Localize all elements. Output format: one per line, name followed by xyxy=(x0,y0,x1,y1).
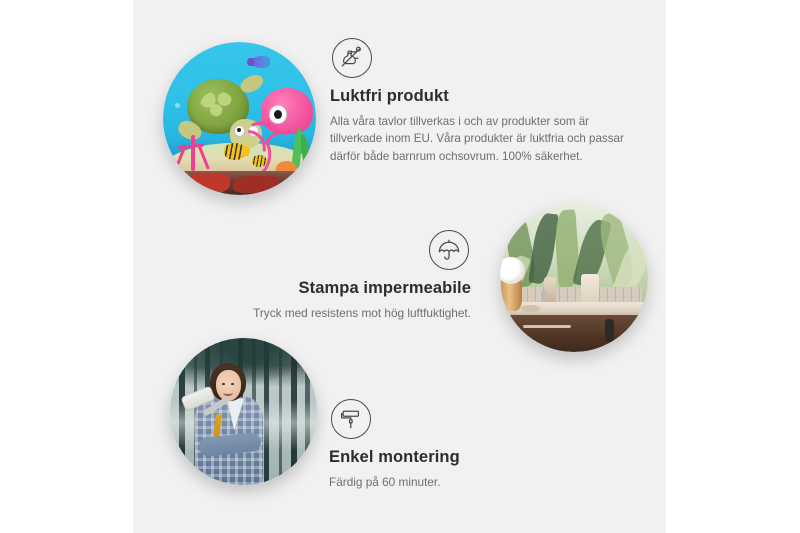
paint-roller-icon xyxy=(331,399,371,439)
feature-title: Luktfri produkt xyxy=(330,87,630,107)
yellow-striped-fish xyxy=(224,143,245,160)
octopus-eye xyxy=(269,105,287,123)
product-image-bathroom[interactable] xyxy=(500,204,648,352)
soap-dispenser xyxy=(544,277,556,304)
icon-wrap xyxy=(330,38,630,78)
eye xyxy=(222,383,225,385)
pink-coral xyxy=(174,131,214,174)
umbrella-icon xyxy=(429,230,469,270)
feature-description: Alla våra tavlor tillverkas i och av pro… xyxy=(330,113,630,166)
product-image-installer[interactable] xyxy=(170,338,317,485)
product-image-underwater-scene[interactable] xyxy=(163,42,316,195)
page-root: Luktfri produkt Alla våra tavlor tillver… xyxy=(0,0,800,533)
feature-block-easy-install: Enkel montering Färdig på 60 minuter. xyxy=(329,399,609,492)
smile xyxy=(223,390,233,396)
feature-block-waterproof: Stampa impermeabile Tryck med resistens … xyxy=(193,230,471,323)
blue-fish-icon xyxy=(252,56,270,68)
content-panel: Luktfri produkt Alla våra tavlor tillver… xyxy=(133,0,666,533)
eye xyxy=(231,383,234,385)
soap-dish xyxy=(521,305,540,312)
feature-block-odourless: Luktfri produkt Alla våra tavlor tillver… xyxy=(330,38,630,166)
feature-title: Enkel montering xyxy=(329,448,609,468)
foreground-strip xyxy=(163,171,316,195)
no-odour-spray-bottle-icon xyxy=(332,38,372,78)
feature-title: Stampa impermeabile xyxy=(193,279,471,299)
underwater-cartoon-scene xyxy=(163,42,316,195)
feature-description: Tryck med resistens mot hög luftfuktighe… xyxy=(193,305,471,323)
icon-wrap xyxy=(329,399,609,439)
woman-with-paint-roller-forest-wallpaper xyxy=(170,338,317,485)
wooden-vanity-cabinet xyxy=(509,315,648,352)
feature-description: Färdig på 60 minuter. xyxy=(329,474,609,492)
icon-wrap xyxy=(193,230,471,270)
bathroom-tropical-leaf-wallpaper xyxy=(500,204,648,352)
